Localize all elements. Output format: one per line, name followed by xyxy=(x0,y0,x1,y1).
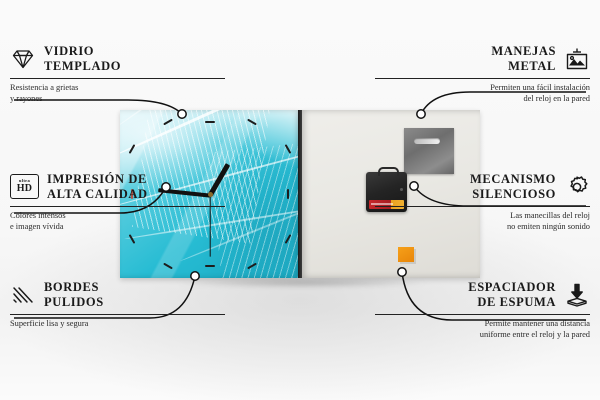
gear-icon xyxy=(564,174,590,200)
feature-rule xyxy=(10,206,225,207)
feature-title: MECANISMOSILENCIOSO xyxy=(470,172,556,202)
foam-spacer-pad xyxy=(398,247,414,262)
feature-description: Permite mantener una distanciauniforme e… xyxy=(375,318,590,340)
feature-rule xyxy=(10,78,225,79)
panel-edge-divider xyxy=(298,110,302,278)
hanger-slot xyxy=(414,138,440,144)
feature-description: Colores intensose imagen vívida xyxy=(10,210,225,232)
feature-description: Superficie lisa y segura xyxy=(10,318,225,329)
clock-hour-marker xyxy=(205,121,215,123)
feature-manejas-metal: MANEJASMETAL Permiten una fácil instalac… xyxy=(375,44,590,104)
feature-espaciador-espuma: ESPACIADORDE ESPUMA Permite mantener una… xyxy=(375,280,590,340)
feature-title: ESPACIADORDE ESPUMA xyxy=(468,280,556,310)
feature-rule xyxy=(375,314,590,315)
feature-title: VIDRIOTEMPLADO xyxy=(44,44,121,74)
feature-bordes-pulidos: BORDESPULIDOS Superficie lisa y segura xyxy=(10,280,225,329)
ultra-hd-icon: ultra HD xyxy=(10,174,39,199)
wall-mount-frame-icon xyxy=(564,46,590,72)
feature-title: BORDESPULIDOS xyxy=(44,280,104,310)
feature-description: Resistencia a grietasy rayones xyxy=(10,82,225,104)
foam-spacer-arrow-icon xyxy=(564,282,590,308)
feature-description: Las manecillas del relojno emiten ningún… xyxy=(375,210,590,232)
clock-hour-marker xyxy=(205,265,215,267)
feature-rule xyxy=(375,206,590,207)
diamond-icon xyxy=(10,46,36,72)
feature-rule xyxy=(375,78,590,79)
metal-hanger-plate xyxy=(404,128,454,174)
clock-hour-marker xyxy=(287,189,289,199)
feature-rule xyxy=(10,314,225,315)
feature-mecanismo-silencioso: MECANISMOSILENCIOSO Las manecillas del r… xyxy=(375,172,590,232)
feature-title: IMPRESIÓN DEALTA CALIDAD xyxy=(47,172,148,202)
feature-title: MANEJASMETAL xyxy=(491,44,556,74)
infographic-canvas: VIDRIOTEMPLADO Resistencia a grietasy ra… xyxy=(0,0,600,400)
feature-impresion-alta-calidad: ultra HD IMPRESIÓN DEALTA CALIDAD Colore… xyxy=(10,172,225,232)
polished-edges-icon xyxy=(10,282,36,308)
feature-description: Permiten una fácil instalacióndel reloj … xyxy=(375,82,590,104)
feature-vidrio-templado: VIDRIOTEMPLADO Resistencia a grietasy ra… xyxy=(10,44,225,104)
